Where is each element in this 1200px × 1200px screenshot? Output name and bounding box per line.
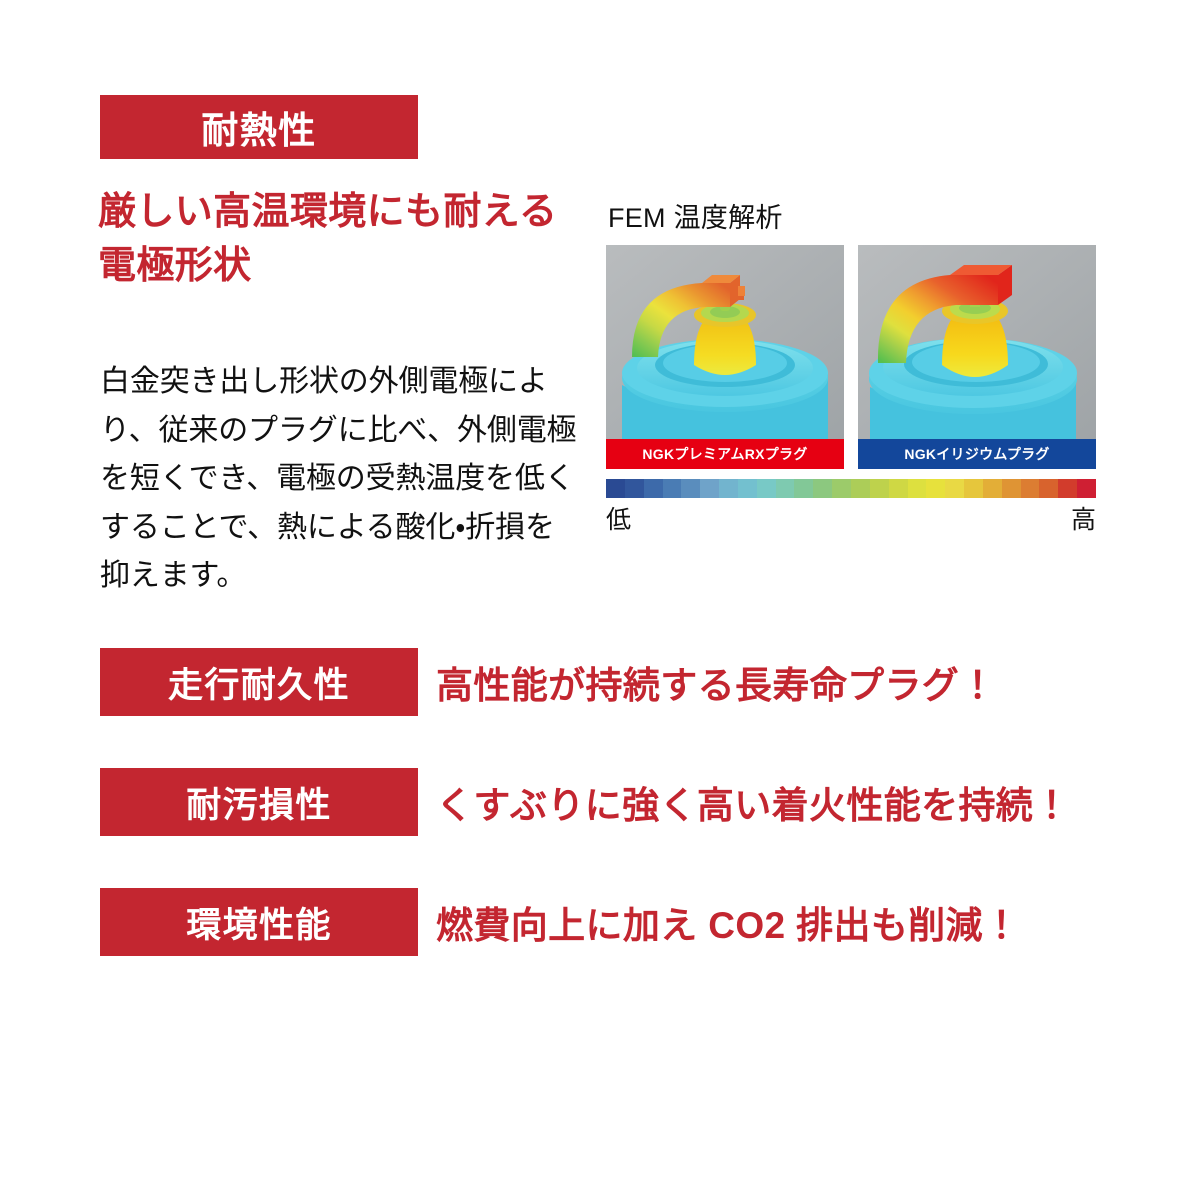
fem-thermal-render-premium-rx bbox=[606, 245, 844, 439]
scale-swatch-17 bbox=[926, 479, 945, 498]
fem-thermal-render-iridium bbox=[858, 245, 1096, 439]
scale-swatch-15 bbox=[889, 479, 908, 498]
feature-text-driving-durability: 高性能が持続する長寿命プラグ！ bbox=[436, 655, 997, 709]
feature-text-environmental-performance: 燃費向上に加え CO2 排出も削減！ bbox=[436, 895, 1020, 949]
scale-swatch-4 bbox=[681, 479, 700, 498]
scale-swatch-2 bbox=[644, 479, 663, 498]
scale-swatch-9 bbox=[776, 479, 795, 498]
scale-swatch-3 bbox=[663, 479, 682, 498]
fem-card-premium-rx: NGKプレミアムRXプラグ bbox=[606, 245, 844, 469]
scale-swatch-1 bbox=[625, 479, 644, 498]
feature-row-driving-durability: 走行耐久性 高性能が持続する長寿命プラグ！ bbox=[100, 648, 1100, 716]
scale-swatch-13 bbox=[851, 479, 870, 498]
fem-caption-premium-rx: NGKプレミアムRXプラグ bbox=[606, 439, 844, 469]
fem-card-iridium: NGKイリジウムプラグ bbox=[858, 245, 1096, 469]
temperature-scale-labels: 低 高 bbox=[606, 500, 1096, 536]
scale-swatch-8 bbox=[757, 479, 776, 498]
feature-row-fouling-resistance: 耐汚損性 くすぶりに強く高い着火性能を持続！ bbox=[100, 768, 1100, 836]
fem-title: FEM 温度解析 bbox=[608, 196, 1096, 235]
scale-swatch-11 bbox=[813, 479, 832, 498]
scale-swatch-10 bbox=[794, 479, 813, 498]
scale-swatch-20 bbox=[983, 479, 1002, 498]
heat-lead-heading: 厳しい高温環境にも耐える 電極形状 bbox=[98, 186, 568, 294]
feature-text-fouling-resistance: くすぶりに強く高い着火性能を持続！ bbox=[436, 775, 1071, 829]
fem-image-pair: NGKプレミアムRXプラグ bbox=[606, 245, 1096, 469]
scale-swatch-24 bbox=[1058, 479, 1077, 498]
temperature-scale-bar bbox=[606, 479, 1096, 498]
scale-swatch-14 bbox=[870, 479, 889, 498]
temperature-scale: 低 高 bbox=[606, 479, 1096, 536]
scale-swatch-19 bbox=[964, 479, 983, 498]
fem-caption-iridium: NGKイリジウムプラグ bbox=[858, 439, 1096, 469]
heat-lead-line-1: 厳しい高温環境にも耐える bbox=[98, 186, 568, 240]
scale-swatch-21 bbox=[1002, 479, 1021, 498]
heat-body-text: 白金突き出し形状の外側電極により、従来のプラグに比べ、外側電極を短くでき、電極の… bbox=[100, 358, 580, 601]
badge-driving-durability: 走行耐久性 bbox=[100, 648, 418, 716]
badge-environmental-performance: 環境性能 bbox=[100, 888, 418, 956]
fem-analysis-block: FEM 温度解析 bbox=[606, 196, 1096, 536]
scale-swatch-6 bbox=[719, 479, 738, 498]
feature-row-environmental-performance: 環境性能 燃費向上に加え CO2 排出も削減！ bbox=[100, 888, 1100, 956]
scale-swatch-23 bbox=[1039, 479, 1058, 498]
scale-label-high: 高 bbox=[1071, 500, 1096, 536]
badge-fouling-resistance: 耐汚損性 bbox=[100, 768, 418, 836]
scale-swatch-25 bbox=[1077, 479, 1096, 498]
scale-swatch-18 bbox=[945, 479, 964, 498]
scale-swatch-12 bbox=[832, 479, 851, 498]
badge-heat-resistance: 耐熱性 bbox=[100, 95, 418, 159]
scale-label-low: 低 bbox=[606, 500, 631, 536]
scale-swatch-7 bbox=[738, 479, 757, 498]
scale-swatch-0 bbox=[606, 479, 625, 498]
scale-swatch-22 bbox=[1021, 479, 1040, 498]
product-feature-page: 耐熱性 厳しい高温環境にも耐える 電極形状 白金突き出し形状の外側電極により、従… bbox=[0, 0, 1200, 1200]
scale-swatch-5 bbox=[700, 479, 719, 498]
heat-lead-line-2: 電極形状 bbox=[98, 240, 568, 294]
scale-swatch-16 bbox=[908, 479, 927, 498]
